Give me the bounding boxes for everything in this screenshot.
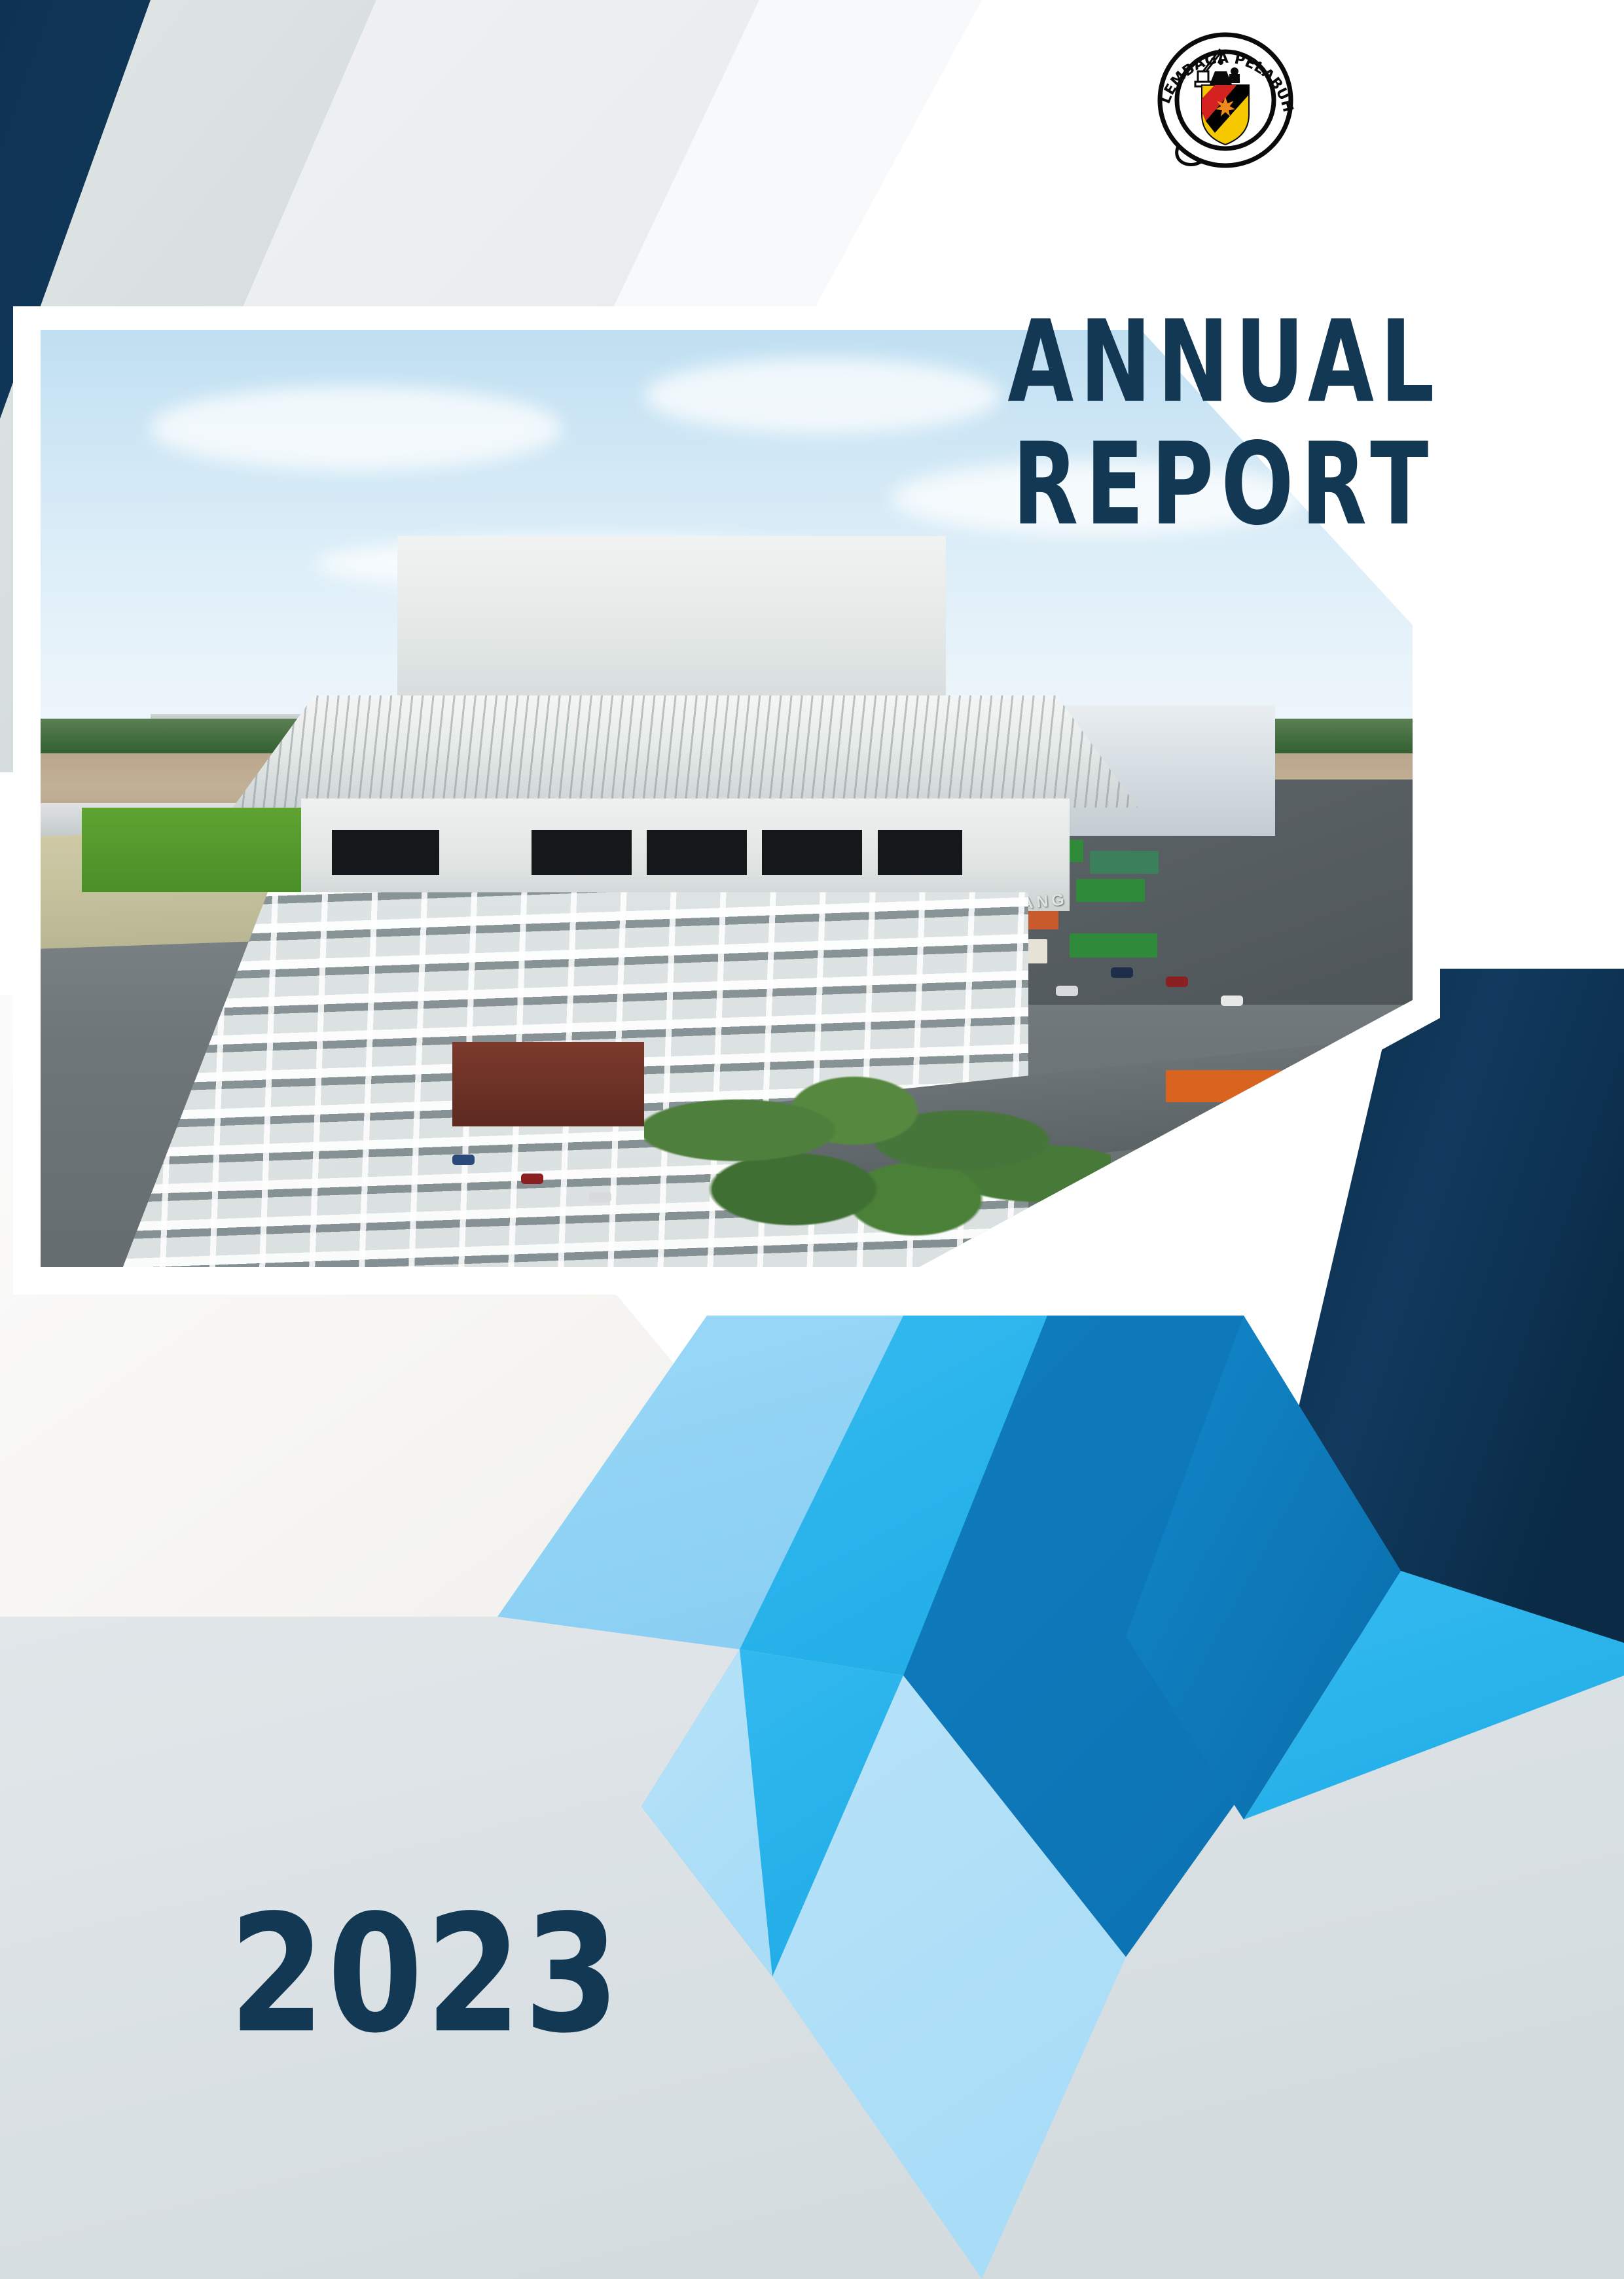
photo-car <box>521 1174 543 1184</box>
cover-title: ANNUAL REPORT <box>857 301 1591 547</box>
photo-container <box>1076 879 1145 901</box>
photo-upper-deck <box>232 695 1138 808</box>
photo-car <box>1056 986 1078 996</box>
photo-container <box>1070 933 1157 958</box>
cover-year: 2023 <box>229 1880 622 2069</box>
photo-container <box>1090 851 1159 873</box>
photo-car <box>1221 996 1243 1006</box>
photo-car <box>589 1192 611 1202</box>
photo-trees <box>644 1052 1111 1249</box>
photo-rooftop-block <box>397 536 946 723</box>
photo-car <box>1166 977 1188 987</box>
photo-truck-container <box>1166 1070 1317 1102</box>
photo-cloud <box>151 386 562 471</box>
title-line-report: REPORT <box>887 410 1561 560</box>
photo-car <box>452 1155 475 1165</box>
photo-car <box>1111 967 1133 978</box>
organisation-logo: LEMBAGA PELABUHAN RAJANG <box>1147 23 1304 180</box>
photo-entrance-canopy <box>452 1042 644 1126</box>
